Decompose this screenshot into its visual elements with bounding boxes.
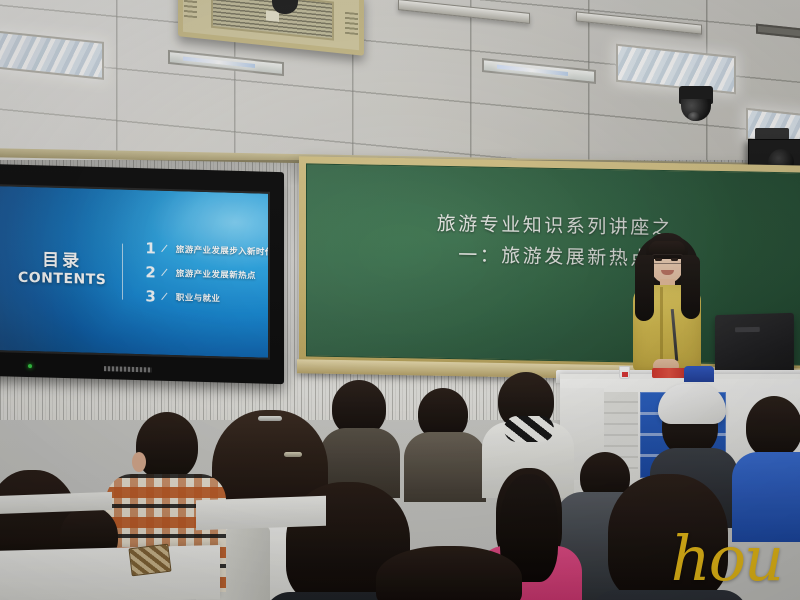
slash-icon: [161, 293, 168, 301]
patterned-scarf: [504, 416, 554, 442]
camera-lens: [688, 112, 700, 121]
slide-heading-block: 目录 CONTENTS: [18, 252, 106, 288]
slide-divider: [122, 244, 123, 300]
list-item-number: 3: [145, 289, 155, 304]
monitor-brand-logo: [735, 327, 760, 332]
list-item-number: 1: [145, 241, 155, 256]
power-led-indicator: [28, 364, 32, 368]
torso: [404, 432, 486, 502]
list-item: 3 职业与就业: [145, 289, 268, 308]
classroom-photo: 目录 CONTENTS 1 旅游产业发展步入新时代 2 旅游产业发展新热点: [0, 0, 800, 600]
desktop-monitor[interactable]: [715, 313, 794, 377]
dome-security-camera: [679, 86, 713, 104]
slide-heading-cn: 目录: [18, 252, 106, 271]
fluorescent-tube: [497, 65, 567, 76]
display-screen[interactable]: 目录 CONTENTS 1 旅游产业发展步入新时代 2 旅游产业发展新热点: [0, 186, 268, 358]
list-item: 2 旅游产业发展新热点: [145, 265, 268, 284]
presentation-slide: 目录 CONTENTS 1 旅游产业发展步入新时代 2 旅游产业发展新热点: [0, 186, 268, 358]
ac-side-vent: [345, 11, 358, 35]
display-brand-logo: [104, 366, 152, 372]
hair: [746, 396, 800, 458]
slash-icon: [161, 269, 168, 277]
cardigan-placket: [660, 287, 663, 369]
ear: [132, 452, 146, 472]
female-lecturer: [627, 227, 707, 379]
jacket-shoulder: [220, 526, 270, 600]
red-desk-items: [652, 368, 686, 378]
hair-fringe: [649, 241, 685, 254]
hair-strand-left: [635, 255, 654, 321]
fluorescent-tube: [183, 57, 255, 68]
list-item-label: 旅游产业发展步入新时代: [176, 243, 268, 258]
slide-heading-en: CONTENTS: [18, 270, 106, 288]
chalkboard-text: 旅游专业知识系列讲座之 一：旅游发展新热点: [307, 206, 800, 278]
cup-label: [622, 372, 628, 377]
hair-clip: [258, 416, 282, 421]
chalkboard-line-2: 一：旅游发展新热点: [307, 238, 800, 278]
hair: [136, 412, 198, 480]
slash-icon: [161, 245, 168, 253]
student-desk: [196, 496, 326, 531]
eye-left: [655, 258, 662, 261]
eye-right: [671, 258, 678, 261]
list-item-number: 2: [145, 265, 155, 280]
photo-watermark: hou: [671, 528, 782, 590]
slide-contents-list: 1 旅游产业发展步入新时代 2 旅游产业发展新热点 3 职业与就业: [135, 241, 268, 308]
hair-clip: [284, 452, 302, 457]
long-hair: [376, 546, 522, 600]
list-item-label: 职业与就业: [176, 291, 221, 304]
student-desk-front: [0, 545, 220, 600]
list-item: 1 旅游产业发展步入新时代: [145, 241, 268, 260]
hair-strand-right: [681, 255, 700, 319]
list-item-label: 旅游产业发展新热点: [176, 267, 256, 281]
ac-side-vent: [184, 0, 197, 19]
white-baseball-cap: [658, 384, 726, 424]
phone-on-desk: [128, 544, 171, 577]
chalkboard-line-1: 旅游专业知识系列讲座之: [307, 206, 800, 246]
interactive-flat-panel-display[interactable]: 目录 CONTENTS 1 旅游产业发展步入新时代 2 旅游产业发展新热点: [0, 164, 284, 384]
